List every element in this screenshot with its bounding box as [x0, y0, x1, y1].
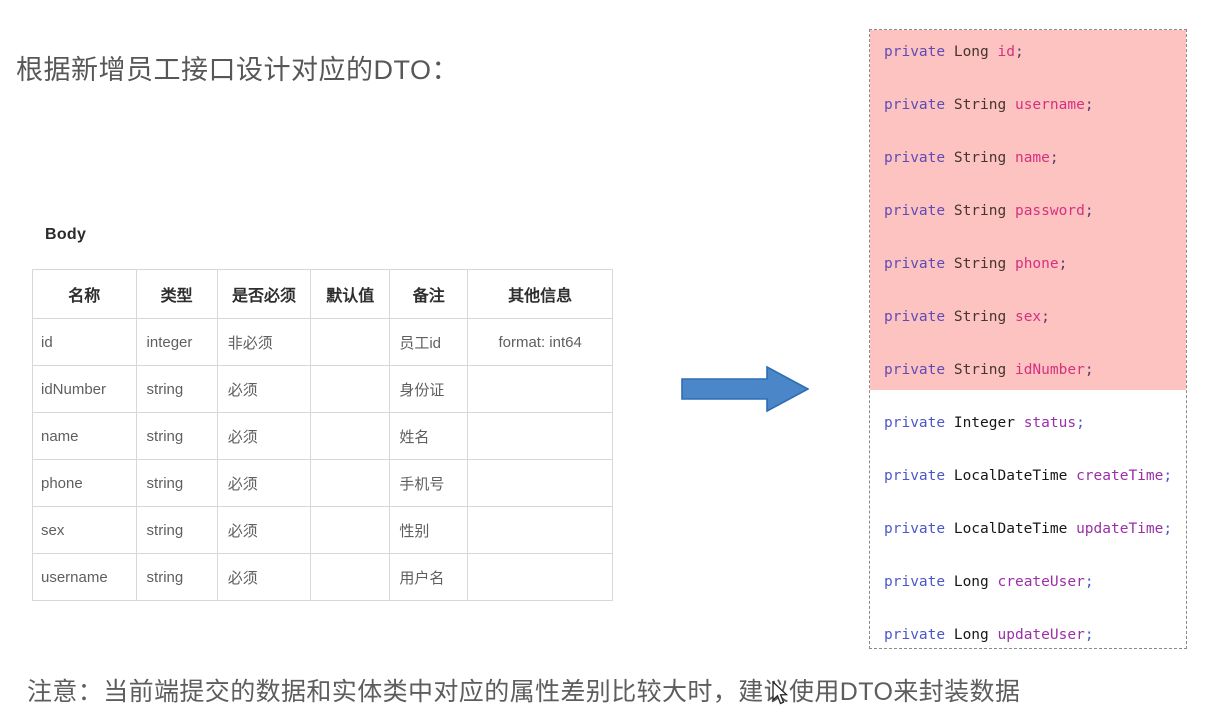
- table-row: idNumberstring必须身份证: [33, 366, 613, 413]
- code-token: LocalDateTime: [954, 468, 1068, 484]
- code-token: LocalDateTime: [954, 521, 1068, 537]
- code-token: status: [1024, 415, 1076, 431]
- code-token: ;: [1085, 574, 1094, 590]
- code-token: updateTime: [1076, 521, 1163, 537]
- code-token: name: [1015, 150, 1050, 166]
- table-cell-other: [468, 507, 613, 554]
- code-line: private Long createUser;: [884, 572, 1094, 592]
- table-header-row: 名称 类型 是否必须 默认值 备注 其他信息: [33, 270, 613, 319]
- code-line: private Long id;: [884, 42, 1024, 62]
- code-token: ;: [1015, 44, 1024, 60]
- table-cell-type: string: [136, 460, 217, 507]
- code-token: private: [884, 362, 945, 378]
- code-token: Long: [954, 44, 989, 60]
- code-line: private String password;: [884, 201, 1094, 221]
- code-line: private String sex;: [884, 307, 1050, 327]
- code-token: ;: [1085, 203, 1094, 219]
- code-line: private String phone;: [884, 254, 1067, 274]
- table-cell-name: phone: [33, 460, 137, 507]
- code-token: idNumber: [1015, 362, 1085, 378]
- table-cell-name: sex: [33, 507, 137, 554]
- table-cell-remark: 姓名: [390, 413, 468, 460]
- table-cell-other: [468, 413, 613, 460]
- code-line: private String name;: [884, 148, 1059, 168]
- code-token: String: [954, 97, 1006, 113]
- code-token: Long: [954, 627, 989, 643]
- code-token: ;: [1163, 468, 1172, 484]
- code-token: Integer: [954, 415, 1015, 431]
- column-header-remark: 备注: [390, 270, 468, 319]
- code-token: private: [884, 521, 945, 537]
- table-cell-name: name: [33, 413, 137, 460]
- column-header-required: 是否必须: [217, 270, 311, 319]
- code-token: id: [998, 44, 1015, 60]
- column-header-name: 名称: [33, 270, 137, 319]
- dto-code-panel: private Long id;private String username;…: [869, 29, 1187, 649]
- table-cell-required: 非必须: [217, 319, 311, 366]
- code-token: private: [884, 627, 945, 643]
- code-token: private: [884, 309, 945, 325]
- table-cell-other: [468, 554, 613, 601]
- column-header-default: 默认值: [311, 270, 390, 319]
- table-cell-default: [311, 413, 390, 460]
- table-cell-required: 必须: [217, 413, 311, 460]
- table-row: phonestring必须手机号: [33, 460, 613, 507]
- code-line: private LocalDateTime createTime;: [884, 466, 1172, 486]
- table-cell-default: [311, 319, 390, 366]
- table-cell-type: string: [136, 413, 217, 460]
- footer-note: 注意：当前端提交的数据和实体类中对应的属性差别比较大时，建议使用DTO来封装数据: [27, 672, 1020, 708]
- code-token: ;: [1050, 150, 1059, 166]
- code-token: phone: [1015, 256, 1059, 272]
- code-token: String: [954, 309, 1006, 325]
- code-line: private Integer status;: [884, 413, 1085, 433]
- code-token: private: [884, 97, 945, 113]
- table-cell-default: [311, 366, 390, 413]
- code-token: private: [884, 44, 945, 60]
- code-token: String: [954, 150, 1006, 166]
- code-token: private: [884, 468, 945, 484]
- table-cell-default: [311, 507, 390, 554]
- code-token: String: [954, 362, 1006, 378]
- code-token: private: [884, 256, 945, 272]
- code-token: String: [954, 203, 1006, 219]
- code-token: createTime: [1076, 468, 1163, 484]
- code-token: ;: [1163, 521, 1172, 537]
- code-token: private: [884, 203, 945, 219]
- code-token: ;: [1076, 415, 1085, 431]
- table-row: namestring必须姓名: [33, 413, 613, 460]
- table-cell-name: id: [33, 319, 137, 366]
- code-token: Long: [954, 574, 989, 590]
- table-cell-default: [311, 554, 390, 601]
- column-header-other: 其他信息: [468, 270, 613, 319]
- table-cell-name: username: [33, 554, 137, 601]
- table-cell-remark: 员工id: [390, 319, 468, 366]
- code-token: ;: [1041, 309, 1050, 325]
- code-line: private LocalDateTime updateTime;: [884, 519, 1172, 539]
- body-section-label: Body: [45, 226, 86, 244]
- code-line: private String idNumber;: [884, 360, 1094, 380]
- table-cell-required: 必须: [217, 460, 311, 507]
- code-line: private String username;: [884, 95, 1094, 115]
- table-cell-remark: 性别: [390, 507, 468, 554]
- column-header-type: 类型: [136, 270, 217, 319]
- api-parameter-table: 名称 类型 是否必须 默认值 备注 其他信息 idinteger非必须员工idf…: [32, 269, 613, 601]
- table-cell-type: string: [136, 554, 217, 601]
- code-token: ;: [1059, 256, 1068, 272]
- code-token: private: [884, 415, 945, 431]
- code-token: updateUser: [998, 627, 1085, 643]
- table-row: sexstring必须性别: [33, 507, 613, 554]
- table-cell-default: [311, 460, 390, 507]
- table-cell-other: [468, 366, 613, 413]
- code-token: String: [954, 256, 1006, 272]
- code-token: private: [884, 150, 945, 166]
- table-cell-type: string: [136, 366, 217, 413]
- code-token: private: [884, 574, 945, 590]
- table-cell-other: format: int64: [468, 319, 613, 366]
- table-cell-required: 必须: [217, 507, 311, 554]
- code-token: sex: [1015, 309, 1041, 325]
- table-cell-remark: 用户名: [390, 554, 468, 601]
- right-arrow-icon: [681, 365, 809, 413]
- table-cell-type: integer: [136, 319, 217, 366]
- table-cell-required: 必须: [217, 554, 311, 601]
- code-token: username: [1015, 97, 1085, 113]
- code-line: private Long updateUser;: [884, 625, 1094, 645]
- code-token: createUser: [998, 574, 1085, 590]
- table-row: idinteger非必须员工idformat: int64: [33, 319, 613, 366]
- table-cell-name: idNumber: [33, 366, 137, 413]
- table-row: usernamestring必须用户名: [33, 554, 613, 601]
- code-token: password: [1015, 203, 1085, 219]
- table-cell-remark: 身份证: [390, 366, 468, 413]
- table-cell-type: string: [136, 507, 217, 554]
- page-title: 根据新增员工接口设计对应的DTO：: [16, 48, 459, 87]
- code-token: ;: [1085, 362, 1094, 378]
- code-token: ;: [1085, 97, 1094, 113]
- table-cell-other: [468, 460, 613, 507]
- table-cell-remark: 手机号: [390, 460, 468, 507]
- code-token: ;: [1085, 627, 1094, 643]
- table-cell-required: 必须: [217, 366, 311, 413]
